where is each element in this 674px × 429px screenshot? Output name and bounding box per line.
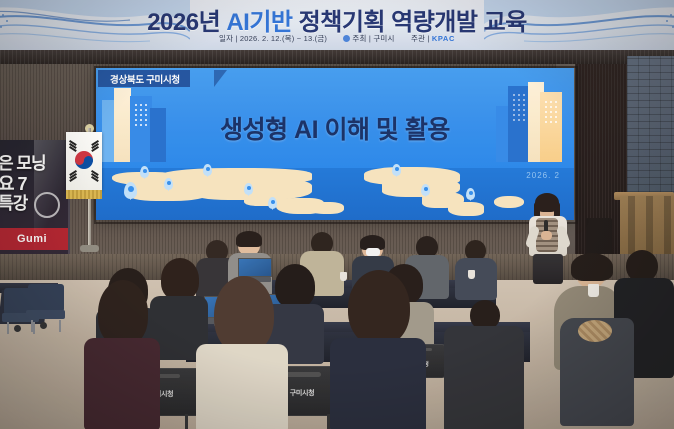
attendee-hair [98,280,148,346]
wall-brick-column [627,56,674,206]
slide-map-pin-8 [421,184,430,196]
banner-host: 주최 | 구미시 [343,34,394,43]
flag-stand-base [80,245,99,252]
attendee-back-6 [455,240,497,296]
face-mask-icon [366,248,380,256]
banner-organizer: 주관 | KPAC [411,34,455,43]
slide-date-stamp: 2026. 2 [526,171,560,180]
slide-map-pin-5 [244,183,253,195]
banner-date: 일자 | 2026. 2. 12.(목) ~ 13.(금) [219,34,327,43]
chair-caster-icon [40,322,47,329]
chair-handle-slot [283,372,321,377]
slide-map-pin-1 [140,166,149,178]
chair-caster-icon [14,325,21,332]
slide-header-badge-tail [214,70,227,87]
poster-glass-glare [34,140,68,258]
attendee-front-1 [84,286,160,429]
slide-header-badge: 경상북도 구미시청 [98,70,190,87]
slide-world-map [96,162,574,220]
flag-fringe [66,190,102,199]
slide-map-pin-9 [466,188,475,200]
event-banner: 2026년 AI기반 정책기획 역량개발 교육 일자 | 2026. 2. 12… [0,0,674,50]
conference-room-photo: 2026년 AI기반 정책기획 역량개발 교육 일자 | 2026. 2. 12… [0,0,674,429]
slide-map-pin-6 [268,197,277,209]
projection-screen: 경상북도 구미시청 생성형 AI 이해 및 활용 2026. 2 [96,68,574,220]
drink-cup [588,284,599,297]
paper-cup-3 [468,270,475,279]
slide-map-pin-2 [124,182,137,199]
attendee-hair-long [348,270,410,346]
gumi-city-logo-icon [343,35,350,42]
presenter-hands [541,231,552,240]
attendee-front-4 [444,300,524,429]
slide-map-pin-3 [203,164,212,176]
banner-title: 2026년 AI기반 정책기획 역량개발 교육 [0,2,674,37]
slide-map-pin-7 [392,164,401,176]
attendee-hair [161,258,199,300]
slide-title: 생성형 AI 이해 및 활용 [96,110,574,146]
attendee-hair [571,253,613,281]
attendee-front-3 [330,276,426,429]
taegukgi-flag-icon [66,132,102,190]
fur-collar [578,320,612,342]
banner-title-year: 2026년 [147,9,226,36]
slide-map-pin-4 [164,178,173,190]
banner-subtitle: 일자 | 2026. 2. 12.(목) ~ 13.(금) 주최 | 구미시 주… [0,33,674,44]
attendee-hair-long [214,276,274,354]
banner-title-highlight: AI기반 [226,9,298,36]
kpac-label: KPAC [432,34,455,43]
taeguk-symbol-icon [75,151,93,169]
attendee-front-2 [196,282,288,429]
wall-upper-trim [0,50,674,64]
banner-title-rest: 정책기획 역량개발 교육 [299,9,527,36]
